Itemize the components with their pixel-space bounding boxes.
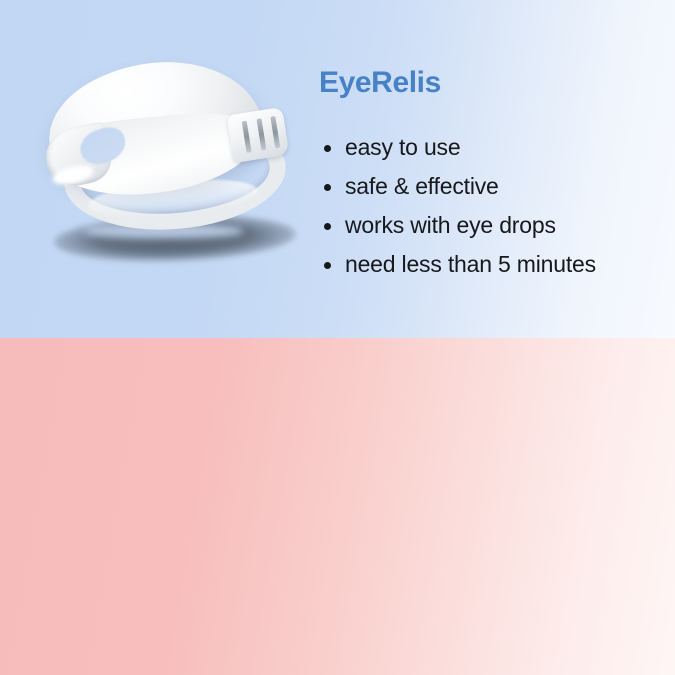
bullet-dot-icon: [324, 223, 331, 230]
list-item-label: safe & effective: [345, 173, 499, 199]
bullet-dot-icon: [324, 184, 331, 191]
list-item: need less than 5 minutes: [319, 245, 659, 284]
buckle-slot: [256, 118, 266, 150]
buckle-slot: [242, 121, 252, 153]
top-panel: EyeRelis easy to use safe & effective wo…: [0, 0, 675, 338]
comparison-poster: EyeRelis easy to use safe & effective wo…: [0, 0, 675, 675]
eye-mask-product-image: [36, 55, 306, 285]
top-heading: EyeRelis: [319, 68, 659, 98]
bullet-dot-icon: [324, 262, 331, 269]
mask-strap-buckle: [227, 107, 290, 163]
top-text-column: EyeRelis easy to use safe & effective wo…: [319, 68, 659, 284]
list-item-label: need less than 5 minutes: [345, 251, 596, 277]
bullet-dot-icon: [324, 145, 331, 152]
list-item: works with eye drops: [319, 206, 659, 245]
list-item-label: easy to use: [345, 134, 460, 160]
list-item-label: works with eye drops: [345, 212, 556, 238]
list-item: safe & effective: [319, 167, 659, 206]
buckle-slot: [270, 116, 280, 148]
list-item: easy to use: [319, 128, 659, 167]
top-bullet-list: easy to use safe & effective works with …: [319, 128, 659, 284]
bottom-panel: Warm compresses Monthly costs annoying t…: [0, 338, 675, 675]
